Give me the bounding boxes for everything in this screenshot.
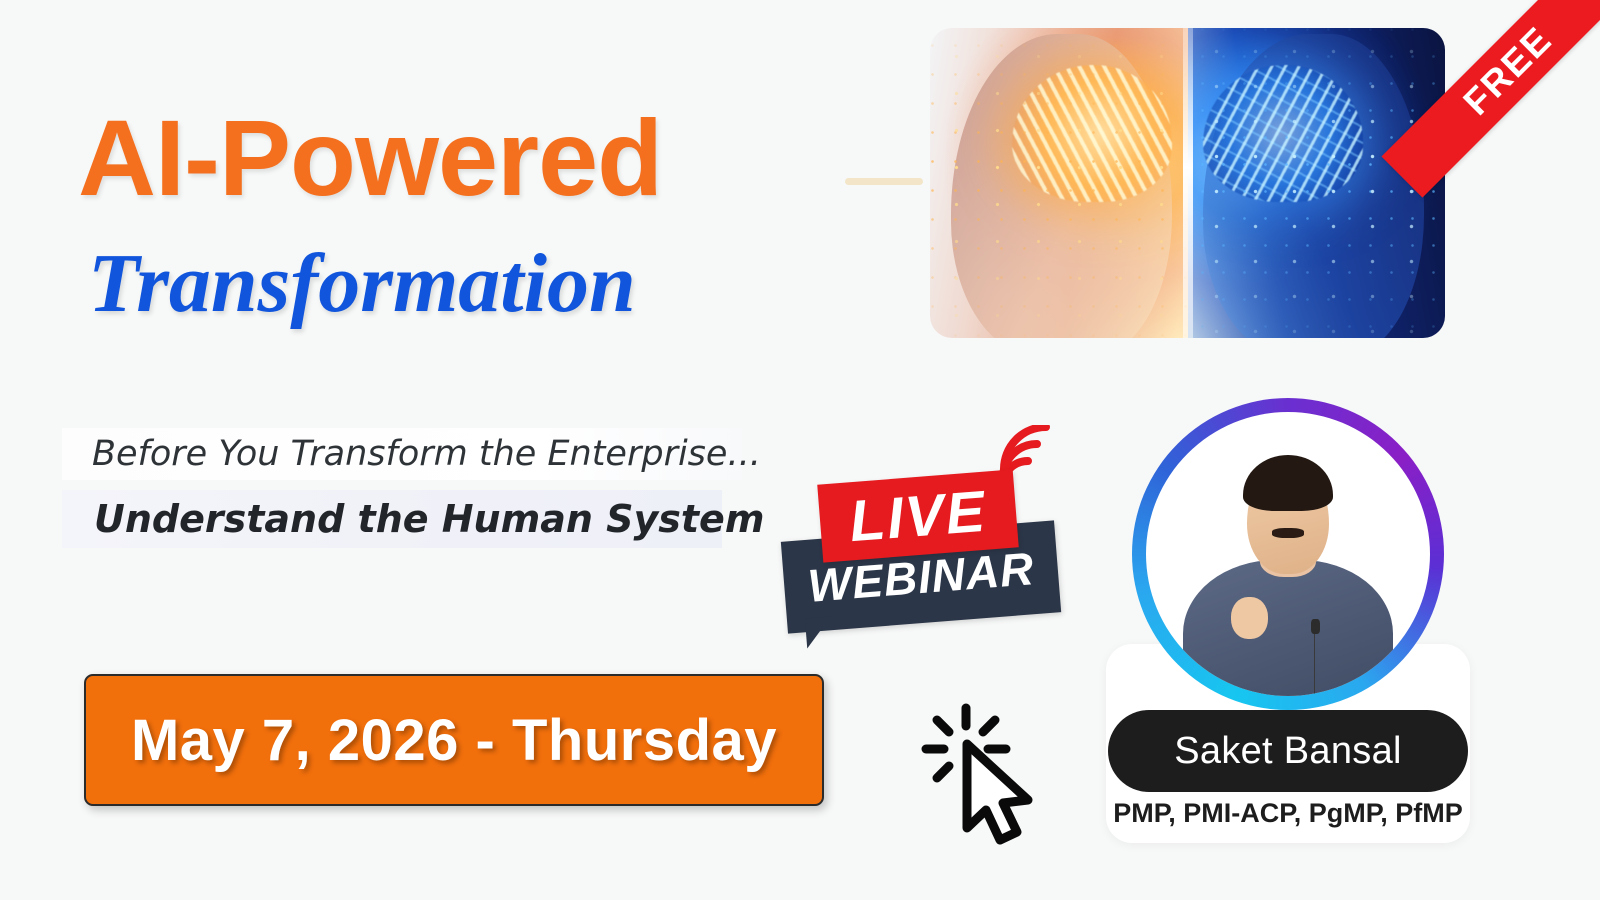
hero-center-seam [1183, 28, 1193, 338]
speaker-name-pill: Saket Bansal [1108, 710, 1468, 792]
speaker-credentials: PMP, PMI-ACP, PgMP, PfMP [1106, 798, 1470, 829]
speaker-lapel-mic [1311, 619, 1320, 633]
speaker-moustache [1272, 528, 1303, 537]
speaker-block: Saket Bansal PMP, PMI-ACP, PgMP, PfMP [1106, 398, 1470, 843]
blue-particles [1188, 28, 1446, 338]
orange-particles [930, 28, 1188, 338]
live-label: LIVE [847, 477, 989, 555]
tagline-band-primary: Before You Transform the Enterprise... [62, 428, 742, 480]
webinar-promo-poster: FREE AI-Powered Transformation Before Yo… [0, 0, 1600, 900]
speech-bubble-tail [805, 616, 845, 649]
hero-ai-brain-half [1188, 28, 1446, 338]
speaker-mic-cord [1314, 631, 1315, 696]
page-title-line1: AI-Powered [78, 104, 662, 212]
speaker-hand [1231, 597, 1268, 640]
hero-brain-image [930, 28, 1445, 338]
click-cursor-icon [920, 700, 1050, 845]
free-ribbon-label: FREE [1455, 18, 1560, 123]
tagline-line2: Understand the Human System [94, 497, 764, 541]
title-divider-rule [845, 178, 923, 185]
event-date-banner[interactable]: May 7, 2026 - Thursday [84, 674, 824, 806]
speaker-hair [1243, 455, 1334, 512]
speaker-name: Saket Bansal [1174, 730, 1402, 773]
tagline-line1: Before You Transform the Enterprise... [92, 434, 761, 474]
event-date-label: May 7, 2026 - Thursday [131, 707, 777, 774]
hero-human-brain-half [930, 28, 1188, 338]
speaker-torso [1183, 560, 1393, 696]
page-title-line2: Transformation [88, 242, 636, 326]
live-chip: LIVE [817, 469, 1019, 562]
tagline-band-secondary: Understand the Human System [62, 490, 722, 548]
speaker-avatar-ring [1132, 398, 1444, 710]
live-webinar-badge: WEBINAR LIVE [784, 425, 1084, 670]
avatar [1146, 412, 1430, 696]
